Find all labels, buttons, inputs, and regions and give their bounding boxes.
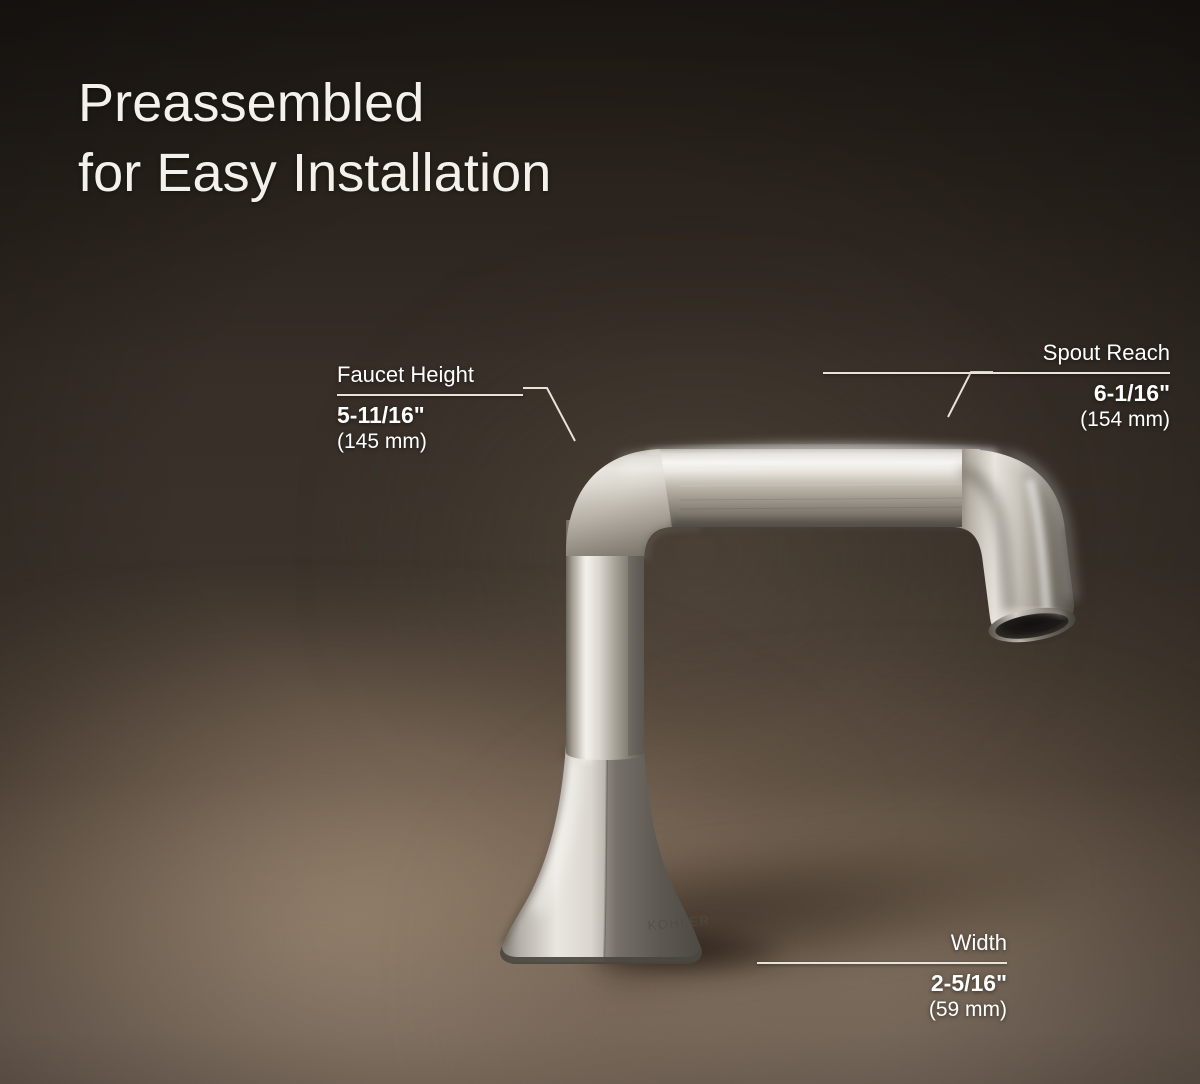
callout-width: Width 2-5/16" (59 mm) [757, 930, 1007, 1022]
callout-value-imperial: 6-1/16" [823, 379, 1170, 407]
callout-label: Width [757, 930, 1007, 956]
page-headline: Preassembled for Easy Installation [78, 68, 551, 208]
callout-value-imperial: 2-5/16" [757, 969, 1007, 997]
callout-label: Spout Reach [823, 340, 1170, 366]
callout-spout-reach: Spout Reach 6-1/16" (154 mm) [823, 340, 1170, 432]
callout-label: Faucet Height [337, 362, 523, 388]
faucet-arm [620, 446, 1000, 529]
callout-rule [337, 394, 523, 396]
callout-value-metric: (59 mm) [757, 997, 1007, 1023]
callout-faucet-height: Faucet Height 5-11/16" (145 mm) [337, 362, 523, 454]
faucet-spout [950, 449, 1074, 634]
callout-rule [823, 372, 1170, 374]
product-dimension-image: KOHLER [0, 0, 1200, 1084]
callout-value-metric: (145 mm) [337, 429, 523, 455]
callout-value-metric: (154 mm) [823, 407, 1170, 433]
callout-rule [757, 962, 1007, 964]
faucet-base: KOHLER [500, 745, 711, 964]
callout-value-imperial: 5-11/16" [337, 401, 523, 429]
